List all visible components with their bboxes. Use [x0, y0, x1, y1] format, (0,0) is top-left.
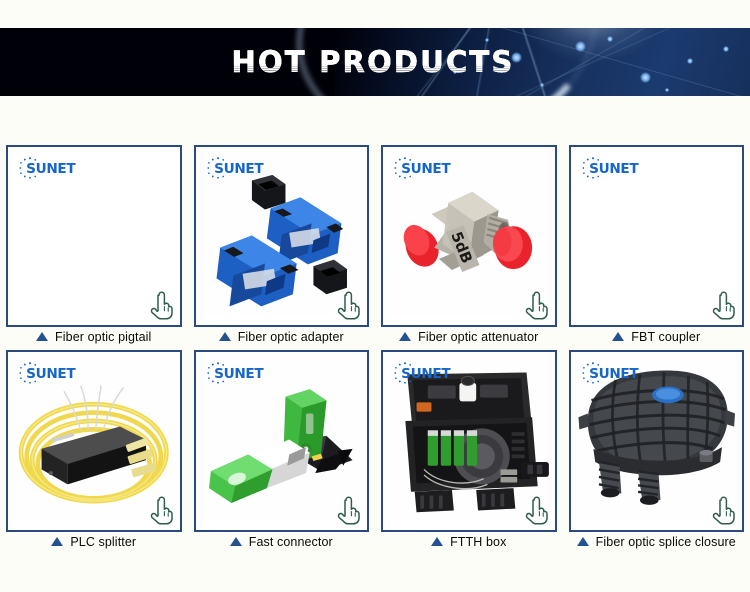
product-thumbnail[interactable]: SUNET: [6, 145, 182, 327]
triangle-bullet-icon: [612, 332, 624, 341]
page-title: HOT PRODUCTS: [231, 45, 514, 79]
sunet-logo: SUNET: [205, 156, 283, 180]
product-grid: SUNET Fiber optic pigtail: [0, 140, 750, 550]
product-card-fast-connector[interactable]: SUNET Fast connector: [188, 345, 376, 550]
product-card-fbt-coupler[interactable]: SUNET FBT coupler: [563, 140, 750, 345]
sunet-logo: SUNET: [392, 156, 470, 180]
click-hand-icon[interactable]: [710, 291, 736, 321]
svg-text:SUNET: SUNET: [214, 161, 264, 177]
click-hand-icon[interactable]: [148, 291, 174, 321]
sunet-logo: SUNET: [17, 361, 95, 385]
click-hand-icon[interactable]: [335, 291, 361, 321]
product-label: Fiber optic splice closure: [596, 535, 736, 549]
product-caption: FTTH box: [381, 533, 557, 550]
triangle-bullet-icon: [431, 537, 443, 546]
triangle-bullet-icon: [219, 332, 231, 341]
sunet-logo: SUNET: [580, 361, 658, 385]
triangle-bullet-icon: [577, 537, 589, 546]
product-label: Fiber optic pigtail: [55, 330, 151, 344]
click-hand-icon[interactable]: [148, 496, 174, 526]
svg-text:SUNET: SUNET: [401, 161, 451, 177]
product-caption: PLC splitter: [6, 533, 182, 550]
click-hand-icon[interactable]: [523, 496, 549, 526]
product-label: FBT coupler: [631, 330, 700, 344]
product-label: FTTH box: [450, 535, 506, 549]
product-thumbnail[interactable]: SUNET: [194, 145, 370, 327]
product-card-fiber-optic-attenuator[interactable]: 5dB: [375, 140, 563, 345]
product-caption: Fast connector: [194, 533, 370, 550]
product-label: Fiber optic adapter: [238, 330, 344, 344]
product-card-fiber-optic-splice-closure[interactable]: SUNET Fiber optic splice closure: [563, 345, 750, 550]
product-row: SUNET PLC splitter: [0, 345, 750, 550]
product-card-fiber-optic-pigtail[interactable]: SUNET Fiber optic pigtail: [0, 140, 188, 345]
hot-products-page: HOT PRODUCTS HOT PRODUCTS SUNET: [0, 0, 750, 592]
triangle-bullet-icon: [51, 537, 63, 546]
click-hand-icon[interactable]: [710, 496, 736, 526]
sunet-logo: SUNET: [580, 156, 658, 180]
sunet-logo: SUNET: [205, 361, 283, 385]
svg-text:SUNET: SUNET: [589, 366, 639, 382]
product-caption: Fiber optic attenuator: [381, 328, 557, 345]
product-thumbnail[interactable]: SUNET: [194, 350, 370, 532]
triangle-bullet-icon: [399, 332, 411, 341]
hot-products-banner: HOT PRODUCTS HOT PRODUCTS: [0, 28, 750, 96]
product-label: PLC splitter: [70, 535, 136, 549]
svg-text:SUNET: SUNET: [401, 366, 451, 382]
triangle-bullet-icon: [36, 332, 48, 341]
click-hand-icon[interactable]: [523, 291, 549, 321]
product-row: SUNET Fiber optic pigtail: [0, 140, 750, 345]
product-thumbnail[interactable]: SUNET: [381, 350, 557, 532]
product-thumbnail[interactable]: SUNET: [569, 145, 745, 327]
product-caption: Fiber optic splice closure: [569, 533, 745, 550]
product-label: Fiber optic attenuator: [418, 330, 538, 344]
product-card-ftth-box[interactable]: SUNET FTTH box: [375, 345, 563, 550]
product-label: Fast connector: [249, 535, 333, 549]
svg-text:SUNET: SUNET: [214, 366, 264, 382]
product-caption: Fiber optic pigtail: [6, 328, 182, 345]
sunet-logo: SUNET: [392, 361, 470, 385]
product-thumbnail[interactable]: 5dB: [381, 145, 557, 327]
product-thumbnail[interactable]: SUNET: [569, 350, 745, 532]
product-card-plc-splitter[interactable]: SUNET PLC splitter: [0, 345, 188, 550]
product-caption: FBT coupler: [569, 328, 745, 345]
svg-text:SUNET: SUNET: [26, 161, 76, 177]
click-hand-icon[interactable]: [335, 496, 361, 526]
product-card-fiber-optic-adapter[interactable]: SUNET Fiber optic adapter: [188, 140, 376, 345]
sunet-logo: SUNET: [17, 156, 95, 180]
triangle-bullet-icon: [230, 537, 242, 546]
svg-text:SUNET: SUNET: [26, 366, 76, 382]
svg-text:SUNET: SUNET: [589, 161, 639, 177]
banner-title-wrap: HOT PRODUCTS HOT PRODUCTS: [0, 28, 750, 96]
product-thumbnail[interactable]: SUNET: [6, 350, 182, 532]
product-caption: Fiber optic adapter: [194, 328, 370, 345]
